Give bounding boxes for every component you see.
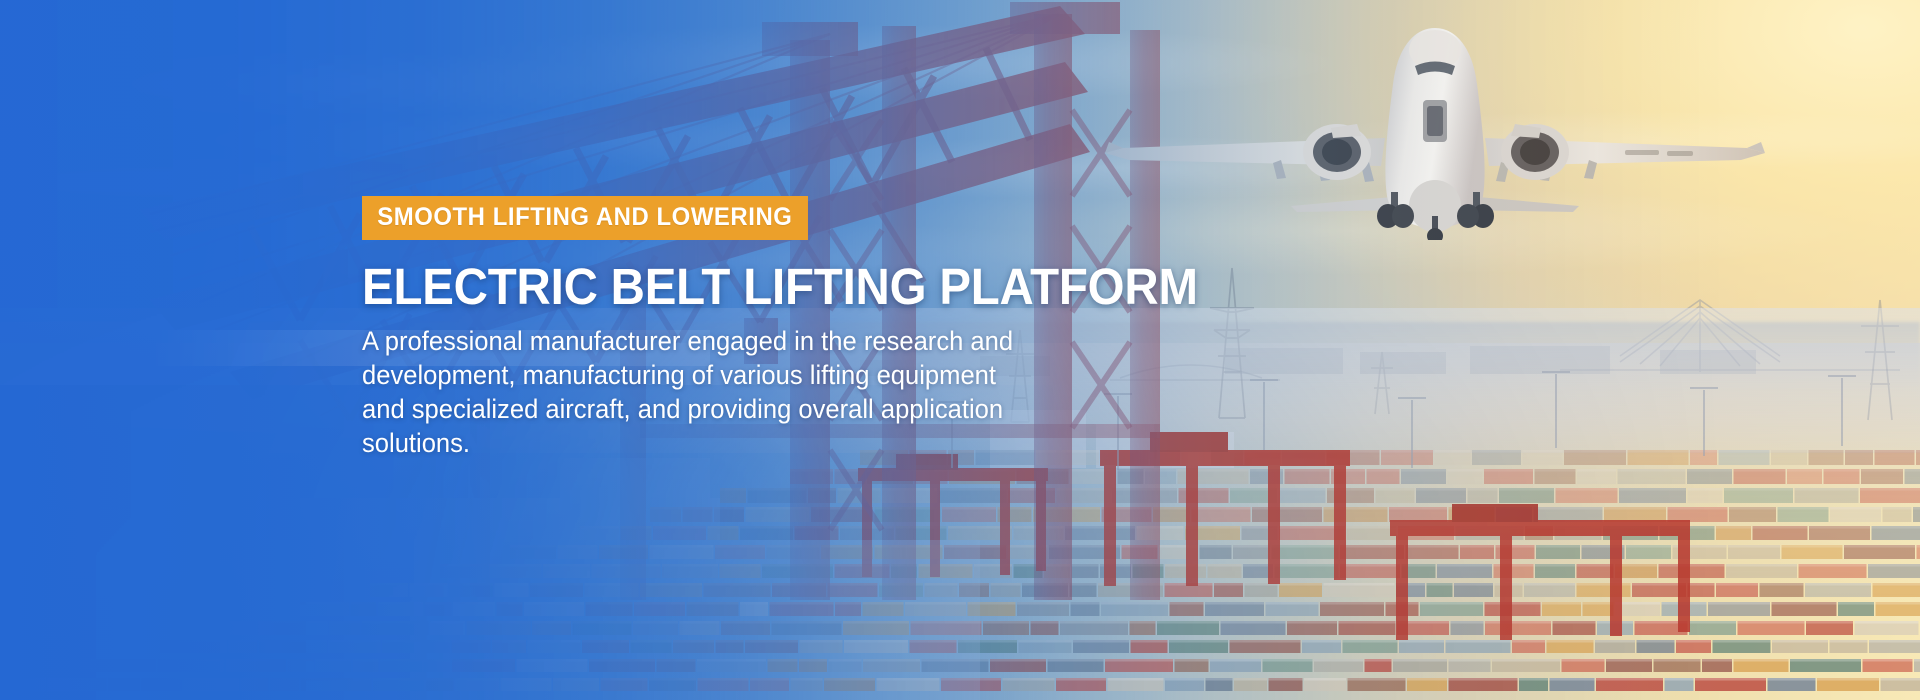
hero-copy: SMOOTH LIFTING AND LOWERING ELECTRIC BEL… — [362, 196, 1122, 460]
hero-description: A professional manufacturer engaged in t… — [362, 324, 1042, 460]
eyebrow-badge: SMOOTH LIFTING AND LOWERING — [362, 196, 808, 240]
page-title: ELECTRIC BELT LIFTING PLATFORM — [362, 261, 1069, 313]
hero-banner: SMOOTH LIFTING AND LOWERING ELECTRIC BEL… — [0, 0, 1920, 700]
